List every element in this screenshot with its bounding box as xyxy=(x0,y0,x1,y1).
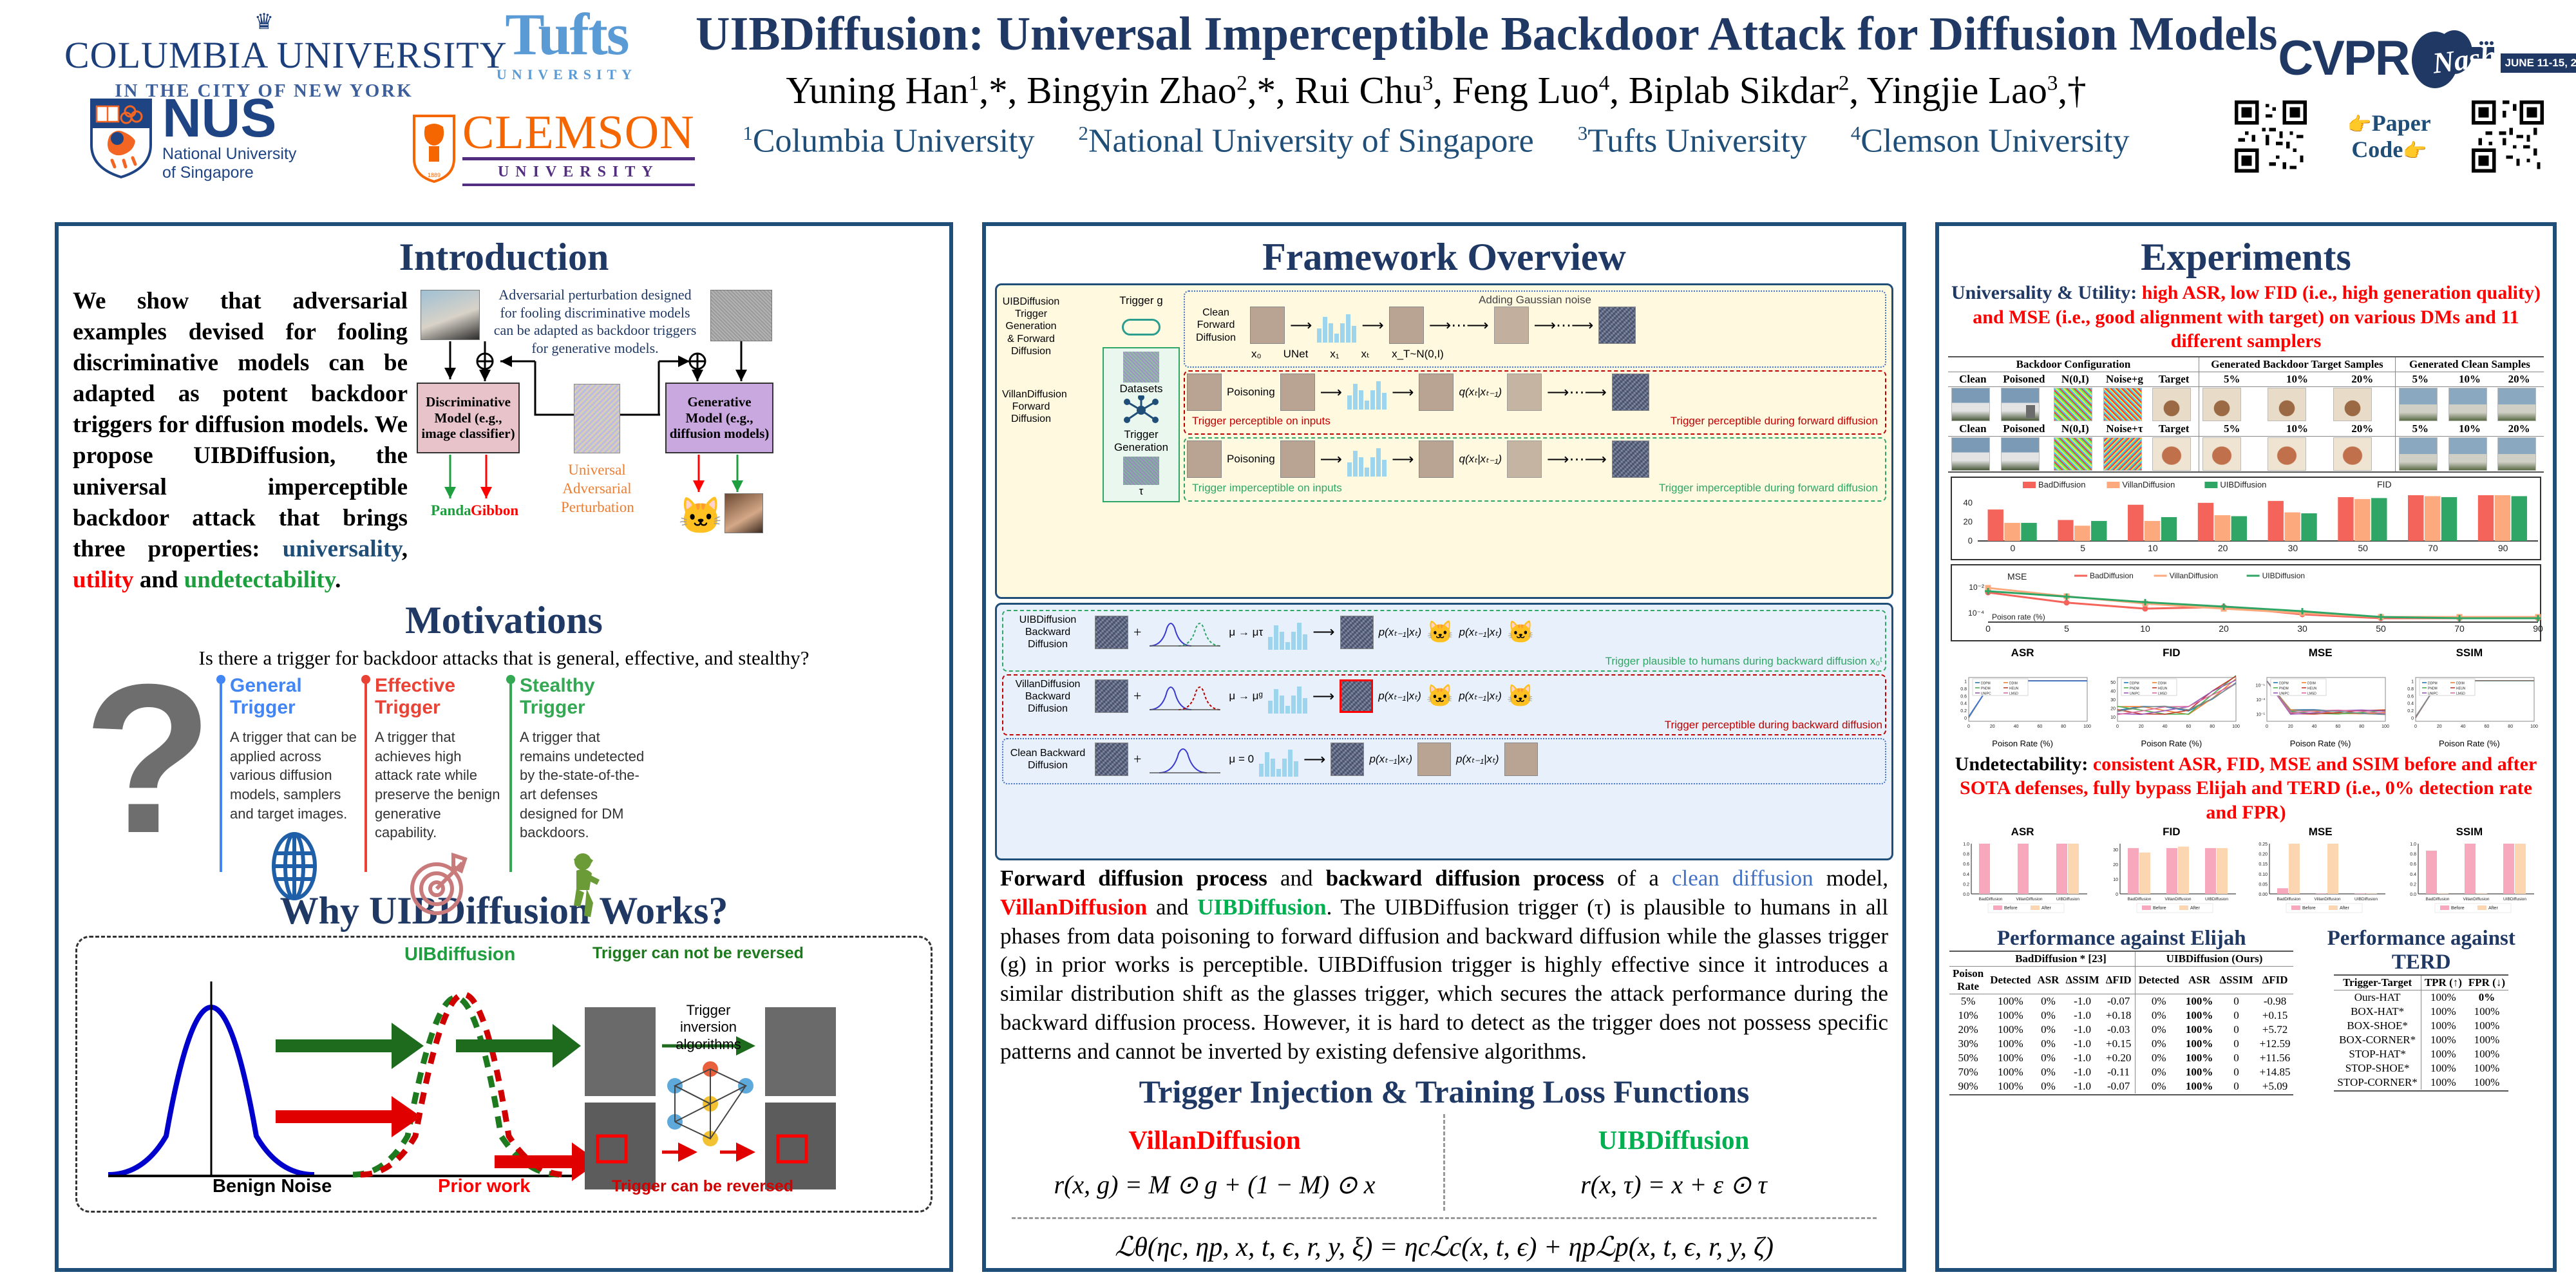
question-mark-icon: ? xyxy=(83,674,213,844)
uib-x0-image xyxy=(1187,440,1222,478)
svg-text:1: 1 xyxy=(2411,679,2414,684)
sample-bd-20-1 xyxy=(2333,388,2372,421)
arrow-icon: ⟶ xyxy=(1392,450,1414,469)
label-datasets: Datasets xyxy=(1107,383,1175,395)
svg-text:100: 100 xyxy=(2083,724,2091,729)
undet-asr-svg: 0.00.20.40.60.81.0BadDiffusionVillanDiff… xyxy=(1949,838,2091,921)
villan-x1-image xyxy=(1419,374,1454,411)
unet-icon xyxy=(1347,442,1387,477)
nus-logo: NUS National University of Singapore xyxy=(90,95,451,182)
experiments-lead: Universality & Utility: high ASR, low FI… xyxy=(1939,279,2553,354)
cat-output-icon: 🐱 xyxy=(1507,620,1534,645)
svg-text:0.8: 0.8 xyxy=(1960,687,1967,692)
table-row: STOP-CORNER*100%100% xyxy=(2334,1075,2508,1090)
svg-text:10: 10 xyxy=(2140,623,2150,634)
unet-icon xyxy=(1259,742,1298,777)
qr-labels: 👉Paper Code👉 xyxy=(2347,110,2430,164)
cat-output-icon: 🐱 xyxy=(1426,683,1454,709)
svg-text:BadDiffusion: BadDiffusion xyxy=(2128,897,2152,902)
elijah-title: Performance against Elijah xyxy=(1949,927,2293,951)
svg-text:30: 30 xyxy=(2288,543,2298,553)
svg-text:20: 20 xyxy=(1964,516,1973,526)
arrow-icon: ⟶ xyxy=(1361,316,1383,335)
equation-villan-name: VillanDiffusion xyxy=(986,1124,1443,1155)
svg-text:UNIPC: UNIPC xyxy=(2279,692,2289,696)
equation-uib-math: r(x, τ) = x + ε ⊙ τ xyxy=(1445,1170,1902,1200)
loss-heading: Trigger Injection & Training Loss Functi… xyxy=(986,1073,1902,1110)
code-qr-label: Code👉 xyxy=(2347,137,2430,163)
forward-diffusion-block: UIBDiffusion Trigger Generation & Forwar… xyxy=(995,283,1893,599)
svg-text:0.8: 0.8 xyxy=(2407,687,2414,692)
distribution-shift-icon xyxy=(1146,679,1224,714)
clean-x1-image xyxy=(1389,307,1424,344)
why-label-prior-work: Prior work xyxy=(438,1176,530,1197)
sample-noise-tau-2 xyxy=(2103,437,2142,471)
cap-perceptible-forward: Trigger perceptible during forward diffu… xyxy=(1671,415,1878,428)
trigger-text-effective: A trigger that achieves high attack rate… xyxy=(375,728,503,842)
svg-text:BadDiffusion: BadDiffusion xyxy=(2425,897,2449,902)
svg-text:5: 5 xyxy=(2080,543,2085,553)
distribution-shift-icon xyxy=(1146,615,1224,650)
note-forward: Forward diffusion process xyxy=(1000,866,1267,891)
col-cl-10: 10% xyxy=(2445,372,2495,386)
svg-text:1.0: 1.0 xyxy=(1963,842,1969,847)
svg-text:60: 60 xyxy=(2186,724,2192,729)
cat-icon: 🐱 xyxy=(678,495,723,537)
terd-table: Trigger-TargetTPR (↑)FPR (↓)Ours-HAT100%… xyxy=(2334,974,2508,1092)
svg-text:After: After xyxy=(2041,906,2051,911)
note-and2: and xyxy=(1147,895,1197,920)
sampler-asr-title: ASR xyxy=(1949,647,2096,659)
table-row: BOX-HAT*100%100% xyxy=(2334,1005,2508,1019)
cvpr-logo-block: CVPR Nashville JUNE 11-15, 2025 xyxy=(2235,19,2544,180)
uap-caption: Universal Adversarial Perturbation xyxy=(561,461,633,516)
svg-text:Before: Before xyxy=(2451,906,2465,911)
uib-poisoned-image xyxy=(1280,440,1315,478)
table-row: 20%100%0%-1.0-0.030%100%0+5.72 xyxy=(1949,1023,2293,1037)
col2-poisoned: Poisoned xyxy=(1998,422,2050,437)
svg-text:20: 20 xyxy=(2437,724,2442,729)
col2-cl-20: 20% xyxy=(2494,422,2544,437)
clemson-logo-name: CLEMSON xyxy=(462,111,695,155)
label-xT: x_T~N(0,I) xyxy=(1392,348,1444,361)
svg-text:0: 0 xyxy=(2010,543,2015,553)
svg-text:80: 80 xyxy=(2210,724,2215,729)
col-target: Target xyxy=(2149,372,2199,386)
col-clean: Clean xyxy=(1948,372,1998,386)
discriminative-model-box: Discriminative Model (e.g., image classi… xyxy=(417,383,520,453)
svg-text:0.20: 0.20 xyxy=(2259,853,2268,857)
cap-perceptible-backward: Trigger perceptible during backward diff… xyxy=(1006,719,1882,732)
distribution-icon xyxy=(1146,742,1224,777)
svg-text:0.6: 0.6 xyxy=(1960,694,1967,699)
sample-cl-5-2 xyxy=(2399,437,2438,471)
label-unet: UNet xyxy=(1283,348,1309,361)
svg-text:60: 60 xyxy=(2038,724,2043,729)
arrow-icon: ⟶ xyxy=(1312,623,1334,641)
uap-noise-image xyxy=(574,384,620,453)
sample-cl-10-1 xyxy=(2448,388,2487,421)
experiments-heading: Experiments xyxy=(1939,235,2553,279)
why-label-can-be-reversed: Trigger can be reversed xyxy=(612,1177,793,1196)
svg-text:10⁻⁵: 10⁻⁵ xyxy=(2255,683,2264,688)
sampler-ssim-title: SSIM xyxy=(2396,647,2543,659)
nus-logo-line2: of Singapore xyxy=(162,164,254,182)
sampler-asr-svg: 00.20.40.60.81020406080100DDPMDDIMPNDMHE… xyxy=(1949,659,2091,735)
svg-text:10⁻¹: 10⁻¹ xyxy=(2256,712,2265,717)
why-heading: Why UIBDiffusion Works? xyxy=(59,889,949,933)
table-row: 10%100%0%-1.0+0.180%100%0+0.15 xyxy=(1949,1009,2293,1023)
cat-output-icon: 🐱 xyxy=(1507,683,1534,709)
undet-ssim-svg: 0.00.20.40.60.81.0BadDiffusionVillanDiff… xyxy=(2396,838,2538,921)
svg-text:50: 50 xyxy=(2110,680,2116,685)
clemson-tiger-icon: 1889 xyxy=(412,114,456,184)
svg-text:0.4: 0.4 xyxy=(2410,873,2416,877)
introduction-figure: Adversarial perturbation designed for fo… xyxy=(408,286,935,589)
svg-text:VillanDiffusion: VillanDiffusion xyxy=(2122,480,2175,489)
svg-text:MSE: MSE xyxy=(2007,571,2027,582)
prop-utility: utility xyxy=(73,567,134,593)
cap-imperceptible-inputs: Trigger imperceptible on inputs xyxy=(1192,482,1342,495)
elijah-table: BadDiffusion * [23]UIBDiffusion (Ours)Po… xyxy=(1949,951,2293,1095)
code-qr-code[interactable] xyxy=(2472,100,2544,173)
svg-text:60: 60 xyxy=(2335,724,2340,729)
affiliation-3: 3Tufts University xyxy=(1578,122,1807,160)
note-uib: UIBDiffusion xyxy=(1197,895,1326,920)
arrow-icon: ⟶ xyxy=(1290,316,1312,335)
svg-text:VillanDiffusion: VillanDiffusion xyxy=(2170,571,2219,580)
svg-text:50: 50 xyxy=(2376,623,2386,634)
svg-text:50: 50 xyxy=(2358,543,2368,553)
undet-mse-title: MSE xyxy=(2248,826,2394,838)
uib-backward-mid xyxy=(1340,616,1374,649)
note-villan: VillanDiffusion xyxy=(1000,895,1147,920)
svg-text:20: 20 xyxy=(2110,706,2116,711)
sampler-chart-mse: MSE 10⁻¹10⁻³10⁻⁵020406080100DDPMDDIMPNDM… xyxy=(2248,647,2394,748)
label-q-forward-g: q(xₜ|xₜ₋₁) xyxy=(1459,386,1502,399)
terd-block: Performance against TERD Trigger-TargetT… xyxy=(2300,927,2543,1095)
svg-text:After: After xyxy=(2190,906,2200,911)
col-poisoned: Poisoned xyxy=(1998,372,2050,386)
poster-header: ♛ COLUMBIA UNIVERSITY IN THE CITY OF NEW… xyxy=(0,0,2576,213)
clean-x0-image xyxy=(1250,307,1285,344)
villan-backward-row: VillanDiffusion Backward Diffusion + μ →… xyxy=(1002,674,1886,736)
why-label-not-reversed: Trigger can not be reversed xyxy=(592,944,804,963)
sample-bd-5-1 xyxy=(2202,388,2241,421)
note-clean: clean diffusion xyxy=(1672,866,1814,891)
framework-heading: Framework Overview xyxy=(986,235,1902,279)
svg-text:0.6: 0.6 xyxy=(2410,862,2416,867)
svg-text:DDPM: DDPM xyxy=(2130,681,2139,685)
clean-backward-out1 xyxy=(1417,743,1451,776)
svg-text:HEUN: HEUN xyxy=(2009,687,2019,690)
svg-text:Poison rate (%): Poison rate (%) xyxy=(1992,612,2045,621)
sampler-chart-fid: FID 1020304050020406080100DDPMDDIMPNDMHE… xyxy=(2098,647,2244,748)
svg-text:10⁻²: 10⁻² xyxy=(1969,583,1984,592)
svg-text:80: 80 xyxy=(2508,724,2513,729)
svg-text:VillanDiffusion: VillanDiffusion xyxy=(2463,897,2489,902)
svg-text:0.4: 0.4 xyxy=(2407,701,2414,706)
arrow-icon: ⟶⋯⟶ xyxy=(1547,450,1607,469)
trigger-card-stealthy: Stealthy Trigger A trigger that remains … xyxy=(509,675,648,882)
sample-noise-2 xyxy=(2054,437,2092,471)
generative-model-box: Generative Model (e.g., diffusion models… xyxy=(665,383,773,453)
svg-text:0: 0 xyxy=(1968,536,1973,545)
why-figure: Benign Noise Prior work UIBdiffusion Tri… xyxy=(75,936,933,1213)
label-p-backward-2: p(xₜ₋₁|xₜ) xyxy=(1459,690,1502,703)
arrow-icon: ⟶⋯⟶ xyxy=(1429,316,1489,335)
equation-villan: VillanDiffusion r(x, g) = M ⊙ g + (1 − M… xyxy=(986,1124,1443,1200)
nus-shield-icon xyxy=(90,99,152,178)
introduction-panel: Introduction We show that adversarial ex… xyxy=(55,222,953,1272)
defense-tables-row: Performance against Elijah BadDiffusion … xyxy=(1939,925,2553,1097)
villan-xt-image xyxy=(1507,374,1542,411)
label-adding-noise: Adding Gaussian noise xyxy=(1187,294,1883,307)
undet-ssim-title: SSIM xyxy=(2396,826,2543,838)
col2-cl-5: 5% xyxy=(2395,422,2445,437)
trigger-text-general: A trigger that can be applied across var… xyxy=(230,728,358,823)
svg-text:VillanDiffusion: VillanDiffusion xyxy=(2314,897,2340,902)
col2-clean: Clean xyxy=(1948,422,1998,437)
label-p-backward-2: p(xₜ₋₁|xₜ) xyxy=(1459,626,1502,639)
label-x0: x₀ xyxy=(1251,348,1262,361)
svg-text:20: 20 xyxy=(2113,863,2118,867)
equation-uib: UIBDiffusion r(x, τ) = x + ε ⊙ τ xyxy=(1445,1124,1902,1200)
svg-text:DDIM: DDIM xyxy=(2009,681,2018,685)
nus-logo-abbr: NUS xyxy=(162,95,296,141)
framework-note: Forward diffusion process and backward d… xyxy=(986,860,1902,1066)
svg-text:FID: FID xyxy=(2377,479,2392,489)
svg-text:UIBDiffusion: UIBDiffusion xyxy=(2262,571,2305,580)
col-bd-5: 5% xyxy=(2199,372,2265,386)
cap-perceptible-inputs: Trigger perceptible on inputs xyxy=(1192,415,1331,428)
why-diagram xyxy=(82,943,933,1207)
tau-trigger-thumb xyxy=(1123,457,1159,485)
svg-text:LMSD: LMSD xyxy=(2158,692,2167,696)
paper-qr-code[interactable] xyxy=(2235,100,2307,173)
clean-xt-image xyxy=(1494,307,1529,344)
trigger-dot-stealthy xyxy=(506,675,515,684)
undetectability-charts-row: ASR 0.00.20.40.60.81.0BadDiffusionVillan… xyxy=(1939,824,2553,925)
sample-grid: Backdoor Configuration Generated Backdoo… xyxy=(1939,354,2553,473)
label-clean-forward: Clean Forward Diffusion xyxy=(1187,307,1245,344)
affiliation-2: 2National University of Singapore xyxy=(1079,122,1534,160)
svg-text:0: 0 xyxy=(1985,623,1991,634)
label-x1: x₁ xyxy=(1330,348,1339,361)
col-cl-5: 5% xyxy=(2395,372,2445,386)
svg-text:0.10: 0.10 xyxy=(2259,873,2268,877)
sample-cl-20-1 xyxy=(2497,388,2536,421)
label-trigger-g: Trigger g xyxy=(1119,294,1162,307)
svg-text:0.0: 0.0 xyxy=(1963,893,1969,897)
col2-target: Target xyxy=(2149,422,2199,437)
svg-text:10⁻³: 10⁻³ xyxy=(2256,698,2265,703)
svg-text:UNIPC: UNIPC xyxy=(2130,692,2140,696)
label-p-backward-2: p(xₜ₋₁|xₜ) xyxy=(1456,753,1499,766)
svg-text:UIBDiffusion: UIBDiffusion xyxy=(2056,897,2079,902)
svg-text:90: 90 xyxy=(2533,623,2543,634)
undetectability-lead: Undetectability: consistent ASR, FID, MS… xyxy=(1939,750,2553,825)
sampler-chart-asr: ASR 00.20.40.60.81020406080100DDPMDDIMPN… xyxy=(1949,647,2096,748)
arrow-icon: ⟶⋯⟶ xyxy=(1547,383,1607,402)
col2-noise-tau: Noise+τ xyxy=(2100,422,2150,437)
svg-text:20: 20 xyxy=(2139,724,2144,729)
unet-icon xyxy=(1317,308,1356,343)
trigger-bar-effective xyxy=(365,679,367,872)
unet-icon xyxy=(1347,375,1387,410)
sample-bd-10-1 xyxy=(2268,388,2306,421)
trigger-title-general: General Trigger xyxy=(230,675,358,719)
tufts-logo-name: Tufts xyxy=(477,6,657,62)
svg-text:1: 1 xyxy=(1964,679,1967,684)
trigger-dot-general xyxy=(216,675,225,684)
svg-text:40: 40 xyxy=(2110,689,2116,694)
svg-text:After: After xyxy=(2488,906,2498,911)
svg-text:UNIPC: UNIPC xyxy=(2428,692,2438,696)
guitar-icon: Nashville JUNE 11-15, 2025 xyxy=(2404,23,2501,93)
label-mu-g: μ → μᵍ xyxy=(1229,690,1262,703)
sample-grid-header-row2: Clean Poisoned N(0,I) Noise+τ Target 5% … xyxy=(1948,422,2544,437)
svg-text:DDIM: DDIM xyxy=(2456,681,2465,685)
villan-x0-image xyxy=(1187,374,1222,411)
dataset-thumb xyxy=(1123,352,1159,383)
sample-grid-image-row2 xyxy=(1948,436,2544,472)
table-row: STOP-SHOE*100%100% xyxy=(2334,1061,2508,1075)
svg-text:0.2: 0.2 xyxy=(2407,709,2414,714)
label-xt: xₜ xyxy=(1361,348,1370,361)
cap-imperceptible-forward: Trigger imperceptible during forward dif… xyxy=(1659,482,1878,495)
label-p-backward: p(xₜ₋₁|xₜ) xyxy=(1369,753,1412,766)
col2-noise-dist: N(0,I) xyxy=(2050,422,2100,437)
svg-text:0.4: 0.4 xyxy=(1963,873,1969,877)
svg-text:UIBDiffusion: UIBDiffusion xyxy=(2503,897,2526,902)
uib-xT-noise xyxy=(1612,440,1649,478)
uib-backward-row: UIBDiffusion Backward Diffusion + μ → μτ… xyxy=(1002,610,1886,672)
affiliation-4: 4Clemson University xyxy=(1851,122,2130,160)
equation-villan-math: r(x, g) = M ⊙ g + (1 − M) ⊙ x xyxy=(986,1170,1443,1200)
undet-chart-mse: MSE 0.000.050.100.150.200.25BadDiffusion… xyxy=(2248,826,2394,924)
prop-universality: universality xyxy=(283,536,402,562)
why-label-inversion: Trigger inversion algorithms xyxy=(657,1002,760,1053)
trigger-card-effective: Effective Trigger A trigger that achieve… xyxy=(365,675,503,882)
cvpr-logo: CVPR Nashville JUNE 11-15, 2025 xyxy=(2235,19,2544,97)
svg-text:0.6: 0.6 xyxy=(1963,862,1969,867)
sample-grid-image-row1 xyxy=(1948,386,2544,422)
sampler-asr-xlabel: Poison Rate (%) xyxy=(1949,739,2096,748)
label-poisoning: Poisoning xyxy=(1227,453,1275,466)
label-uib-backward: UIBDiffusion Backward Diffusion xyxy=(1006,614,1090,651)
col-cl-20: 20% xyxy=(2494,372,2544,386)
mse-line-svg: 10⁻²10⁻⁴05102030507090MSEPoison rate (%)… xyxy=(1952,565,2544,640)
table-row: BOX-CORNER*100%100% xyxy=(2334,1033,2508,1047)
label-trigger-tau: τ xyxy=(1107,485,1175,498)
clean-backward-noise xyxy=(1095,743,1128,776)
svg-text:40: 40 xyxy=(2014,724,2019,729)
note-backward: backward diffusion process xyxy=(1326,866,1604,891)
label-p-backward: p(xₜ₋₁|xₜ) xyxy=(1379,626,1422,639)
note-rest: . The UIBDiffusion trigger (τ) is plausi… xyxy=(1000,895,1888,1064)
stealth-person-icon xyxy=(520,851,648,934)
clemson-rule-top xyxy=(462,157,695,160)
svg-text:VillanDiffusion: VillanDiffusion xyxy=(2165,897,2192,902)
sample-grid-header-row1: Clean Poisoned N(0,I) Noise+g Target 5% … xyxy=(1948,372,2544,386)
svg-text:LMSD: LMSD xyxy=(2307,692,2316,696)
table-row: STOP-HAT*100%100% xyxy=(2334,1047,2508,1061)
equation-row: VillanDiffusion r(x, g) = M ⊙ g + (1 − M… xyxy=(986,1110,1902,1211)
col-bd-20: 20% xyxy=(2330,372,2396,386)
trigger-generation-box: Datasets Trigger Generation τ xyxy=(1103,347,1180,502)
columbia-logo-name: COLUMBIA UNIVERSITY xyxy=(64,33,464,77)
sample-noise-g-1 xyxy=(2103,388,2142,421)
svg-text:100: 100 xyxy=(2382,724,2389,729)
svg-text:PNDM: PNDM xyxy=(2130,687,2139,690)
sample-clean-1 xyxy=(1951,388,1990,421)
label-panda: Panda xyxy=(431,502,471,519)
svg-text:LMSD: LMSD xyxy=(2009,692,2018,696)
paper-qr-label: 👉Paper xyxy=(2347,110,2430,137)
svg-text:0.4: 0.4 xyxy=(1960,701,1967,706)
svg-text:DDIM: DDIM xyxy=(2307,681,2316,685)
sample-bd-10-2 xyxy=(2268,437,2306,471)
sampler-ssim-xlabel: Poison Rate (%) xyxy=(2396,739,2543,748)
svg-text:0.05: 0.05 xyxy=(2259,882,2268,887)
equation-uib-name: UIBDiffusion xyxy=(1445,1124,1902,1155)
uib-backward-noise xyxy=(1095,616,1128,649)
col-noise-dist: N(0,I) xyxy=(2050,372,2100,386)
table-row: 50%100%0%-1.0+0.200%100%0+11.56 xyxy=(1949,1051,2293,1065)
intro-period: . xyxy=(335,567,341,593)
svg-text:40: 40 xyxy=(2163,724,2168,729)
clean-backward-out2 xyxy=(1504,743,1538,776)
svg-text:1889: 1889 xyxy=(428,172,440,178)
svg-text:0: 0 xyxy=(2266,724,2268,729)
trigger-bar-stealthy xyxy=(509,679,512,872)
svg-text:BadDiffusion: BadDiffusion xyxy=(2277,897,2300,902)
svg-text:UIBDiffusion: UIBDiffusion xyxy=(2354,897,2377,902)
sample-poisoned-1 xyxy=(2001,388,2040,421)
label-trigger-generation: Trigger Generation xyxy=(1107,428,1175,454)
cap-plausible-backward: Trigger plausible to humans during backw… xyxy=(1006,655,1882,668)
sample-target-1 xyxy=(2152,388,2191,421)
unet-icon xyxy=(1268,615,1307,650)
equation-hrule xyxy=(1012,1217,1877,1219)
introduction-paragraph: We show that adversarial examples devise… xyxy=(73,286,408,596)
col2-cl-10: 10% xyxy=(2445,422,2495,437)
sampler-ssim-svg: 00.20.40.60.81020406080100DDPMDDIMPNDMHE… xyxy=(2396,659,2538,735)
undet-chart-ssim: SSIM 0.00.20.40.60.81.0BadDiffusionVilla… xyxy=(2396,826,2543,924)
svg-text:10: 10 xyxy=(2148,543,2158,553)
fid-bar-chart: 0204005102030507090BadDiffusionVillanDif… xyxy=(1951,477,2541,560)
group-header-clean: Generated Clean Samples xyxy=(2395,357,2544,372)
why-label-uibdiffusion: UIBdiffusion xyxy=(404,944,515,965)
svg-text:0: 0 xyxy=(2116,893,2118,897)
globe-icon xyxy=(230,832,358,914)
undet-fid-svg: 0102030BadDiffusionVillanDiffusionUIBDif… xyxy=(2098,838,2240,921)
clemson-logo-sub: UNIVERSITY xyxy=(462,164,695,181)
svg-text:100: 100 xyxy=(2530,724,2538,729)
clean-backward-row: Clean Backward Diffusion + μ = 0 ⟶ p(xₜ₋… xyxy=(1002,738,1886,784)
clemson-rule-bottom xyxy=(462,184,695,186)
svg-text:60: 60 xyxy=(2484,724,2489,729)
svg-text:20: 20 xyxy=(2287,724,2293,729)
face-image xyxy=(724,493,763,533)
table-row: 5%100%0%-1.0-0.070%100%0-0.98 xyxy=(1949,994,2293,1009)
svg-text:20: 20 xyxy=(2218,543,2228,553)
qr-row: 👉Paper Code👉 xyxy=(2235,100,2544,173)
svg-text:30: 30 xyxy=(2110,698,2116,703)
clean-backward-mid xyxy=(1331,743,1364,776)
svg-text:0: 0 xyxy=(2116,724,2119,729)
